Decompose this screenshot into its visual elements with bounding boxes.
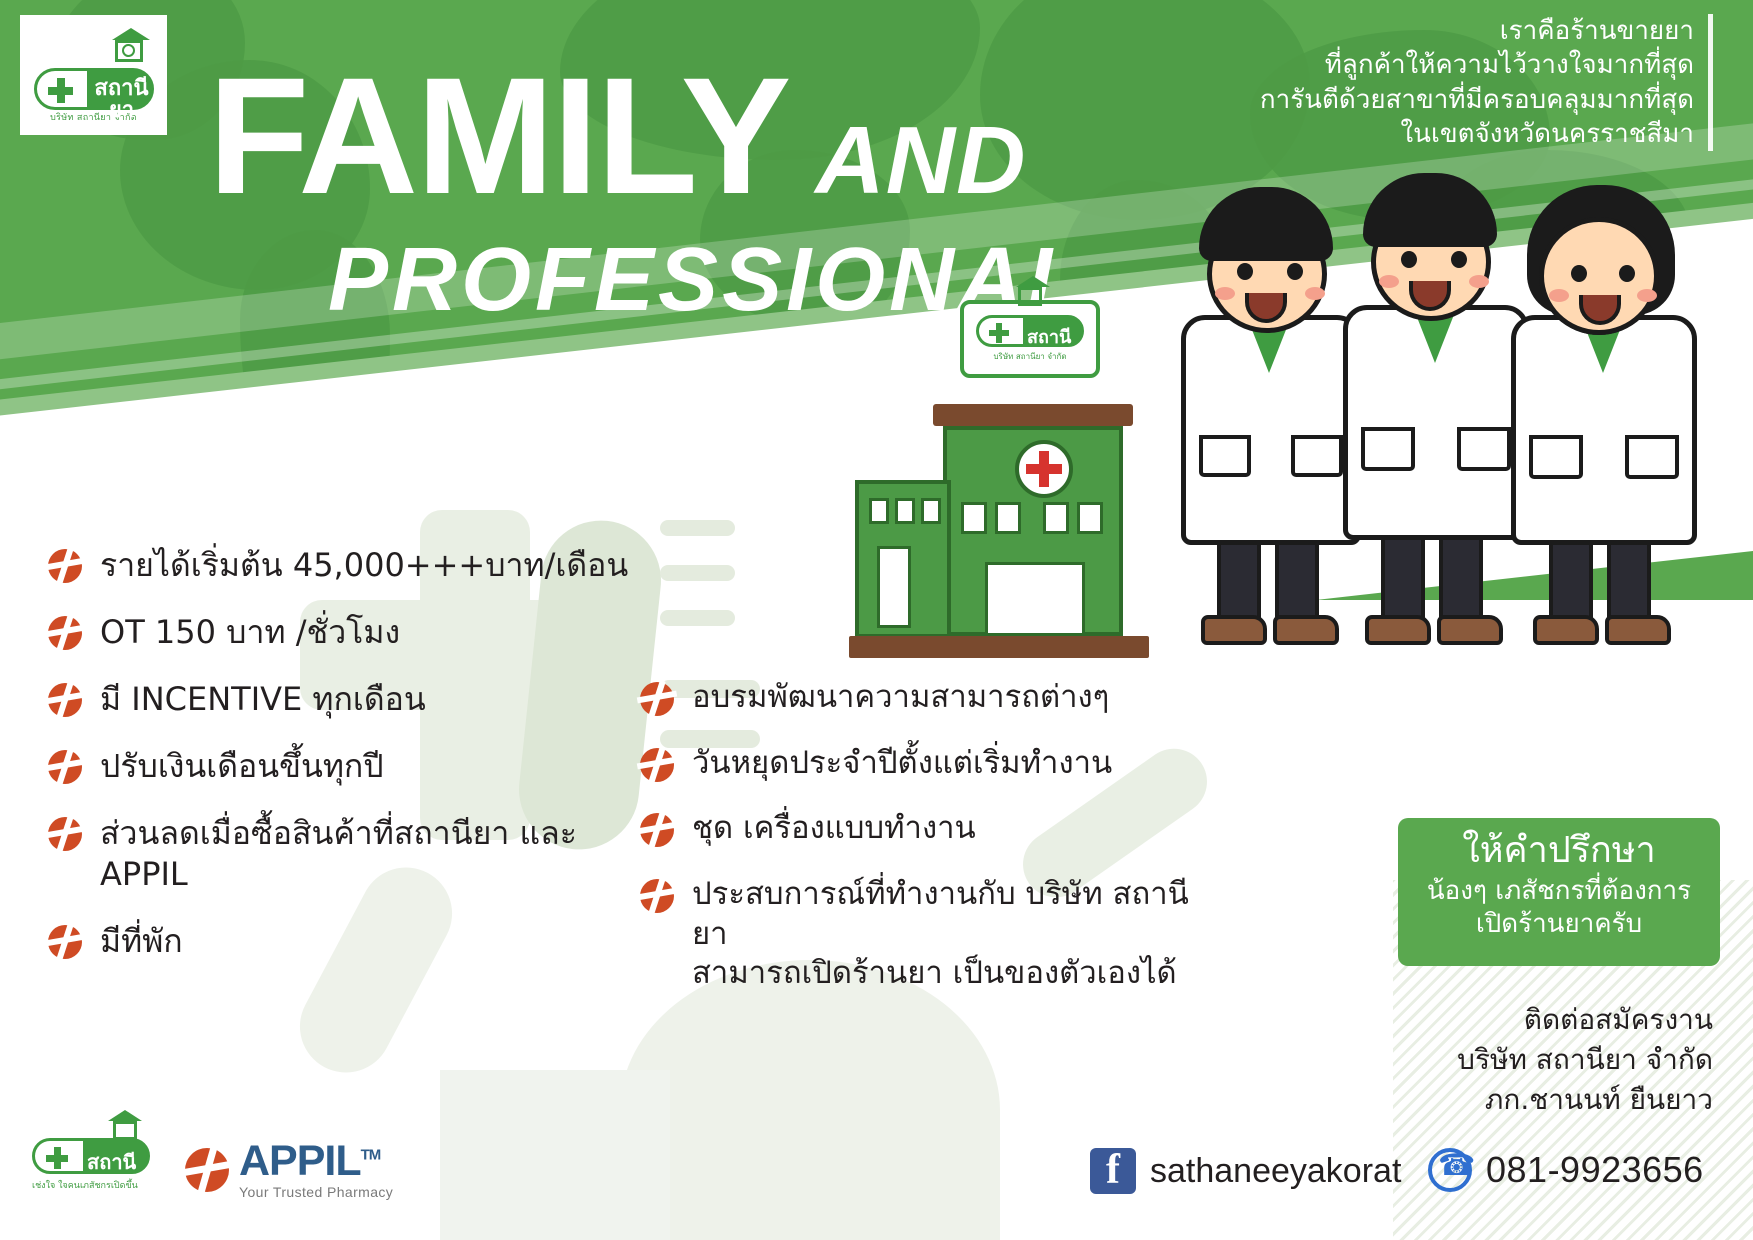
building-door [985,562,1085,636]
list-item: วันหยุดประจำปีตั้งแต่เริ่มทำงาน [640,744,1220,784]
clock-tower-icon [108,1110,142,1140]
appil-name-text: APPIL [239,1137,361,1185]
appil-flower-icon [48,616,82,650]
appil-flower-icon [48,750,82,784]
benefit-text-continuation: สามารถเปิดร้านยา เป็นของตัวเองได้ [692,954,1220,994]
clock-tower-icon [1016,276,1044,306]
company-logo: สถานียา บริษัท สถานียา จำกัด [20,15,167,135]
sign-wordmark: สถานียา [1027,322,1081,380]
cta-title: ให้คำปรึกษา [1398,830,1720,871]
dash-watermark [660,520,735,536]
clock-tower-icon [112,28,146,58]
footer-company-logo: สถานียา เช่งใจ ใจคนเภสัชกรเปิดขึ้น [32,1138,172,1224]
pill-capsule-icon: สถานียา [32,1138,150,1174]
pharmacist-characters-illustration [1175,165,1735,665]
footer-logo-wordmark: สถานียา [87,1146,147,1210]
benefit-text: OT 150 บาท /ชั่วโมง [100,612,400,653]
contact-line-1: ติดต่อสมัครงาน [1457,1000,1713,1040]
benefit-text: อบรมพัฒนาความสามารถต่างๆ [692,678,1109,718]
list-item: ประสบการณ์ที่ทำงานกับ บริษัท สถานียา สาม… [640,875,1220,994]
building-window [961,502,987,534]
phone-number[interactable]: 081-9923656 [1486,1149,1704,1191]
building-window [1077,502,1103,534]
tagline-line-4: ในเขตจังหวัดนครราชสีมา [1260,117,1694,151]
cta-line-3: เปิดร้านยาครับ [1398,908,1720,941]
appil-wordmark: APPILTM [239,1140,393,1183]
benefit-text: มี INCENTIVE ทุกเดือน [100,679,426,720]
green-cross-icon [46,1147,68,1169]
building-window [995,502,1021,534]
logo-wordmark: สถานียา [93,78,151,122]
headline-and: AND [815,115,1026,206]
list-item: มี INCENTIVE ทุกเดือน [48,679,648,720]
appil-flower-icon [185,1148,229,1192]
list-item: ชุด เครื่องแบบทำงาน [640,809,1220,849]
cta-line-2: น้องๆ เภสัชกรที่ต้องการ [1398,875,1720,908]
phone-contact[interactable]: 081-9923656 [1428,1148,1704,1192]
tagline-line-2: ที่ลูกค้าให้ความไว้วางใจมากที่สุด [1260,48,1694,82]
shop-sign: สถานียา บริษัท สถานียา จำกัด [960,300,1100,378]
appil-flower-icon [48,925,82,959]
building-window [921,498,941,524]
benefit-text: วันหยุดประจำปีตั้งแต่เริ่มทำงาน [692,744,1112,784]
list-item: มีที่พัก [48,921,648,962]
benefit-text: ชุด เครื่องแบบทำงาน [692,809,976,849]
contact-line-2: บริษัท สถานียา จำกัด [1457,1040,1713,1080]
facebook-contact[interactable]: sathaneeyakorat [1090,1148,1401,1194]
building-base [849,636,1149,658]
consultation-callout-box: ให้คำปรึกษา น้องๆ เภสัชกรที่ต้องการ เปิด… [1398,818,1720,966]
green-cross-icon [989,323,1009,343]
list-item: อบรมพัฒนาความสามารถต่างๆ [640,678,1220,718]
pill-capsule-icon: สถานียา [34,68,154,110]
appil-flower-icon [640,748,674,782]
red-cross-icon [1015,440,1073,498]
facebook-handle[interactable]: sathaneeyakorat [1150,1152,1401,1191]
list-item: ปรับเงินเดือนขึ้นทุกปี [48,746,648,787]
headline-family: FAMILY [208,58,789,216]
benefit-text: มีที่พัก [100,921,183,962]
building-left-wing [855,480,951,638]
trademark-mark: TM [361,1147,381,1164]
benefit-text: ส่วนลดเมื่อซื้อสินค้าที่สถานียา และ APPI… [100,813,648,895]
page-title: FAMILY AND PROFESSIONAL [208,58,1086,323]
appil-flower-icon [640,813,674,847]
green-cross-icon [48,78,73,103]
contact-block: ติดต่อสมัครงาน บริษัท สถานียา จำกัด ภก.ช… [1457,1000,1713,1119]
appil-flower-icon [640,682,674,716]
dash-watermark [660,610,735,626]
square-watermark [440,1070,670,1240]
benefit-text: รายได้เริ่มต้น 45,000+++บาท/เดือน [100,545,628,586]
phone-icon[interactable] [1428,1148,1472,1192]
appil-tagline: Your Trusted Pharmacy [239,1185,393,1199]
contact-line-3: ภก.ชานนท์ ยืนยาว [1457,1080,1713,1120]
building-window [895,498,915,524]
pharmacy-building-illustration: สถานียา บริษัท สถานียา จำกัด [855,300,1175,660]
building-window [1043,502,1069,534]
building-door [877,546,911,628]
building-window [869,498,889,524]
benefit-text: ประสบการณ์ที่ทำงานกับ บริษัท สถานียา [692,875,1220,954]
pill-capsule-icon: สถานียา [976,315,1084,347]
tagline-line-3: การันตีด้วยสาขาที่มีครอบคลุมมากที่สุด [1260,83,1694,117]
tagline-block: เราคือร้านขายยา ที่ลูกค้าให้ความไว้วางใจ… [1260,14,1713,151]
list-item: OT 150 บาท /ชั่วโมง [48,612,648,653]
recruitment-poster: สถานียา บริษัท สถานียา จำกัด FAMILY AND … [0,0,1753,1240]
tagline-line-1: เราคือร้านขายยา [1260,14,1694,48]
benefit-text: ปรับเงินเดือนขึ้นทุกปี [100,746,384,787]
appil-flower-icon [48,549,82,583]
dash-watermark [660,565,735,581]
list-item: ส่วนลดเมื่อซื้อสินค้าที่สถานียา และ APPI… [48,813,648,895]
benefits-list-left: รายได้เริ่มต้น 45,000+++บาท/เดือน OT 150… [48,545,648,988]
appil-brand-logo: APPILTM Your Trusted Pharmacy [185,1140,393,1199]
appil-flower-icon [640,879,674,913]
building-roof [933,404,1133,426]
list-item: รายได้เริ่มต้น 45,000+++บาท/เดือน [48,545,648,586]
facebook-icon[interactable] [1090,1148,1136,1194]
appil-flower-icon [48,683,82,717]
benefits-list-right: อบรมพัฒนาความสามารถต่างๆ วันหยุดประจำปีต… [640,678,1220,1020]
appil-flower-icon [48,817,82,851]
